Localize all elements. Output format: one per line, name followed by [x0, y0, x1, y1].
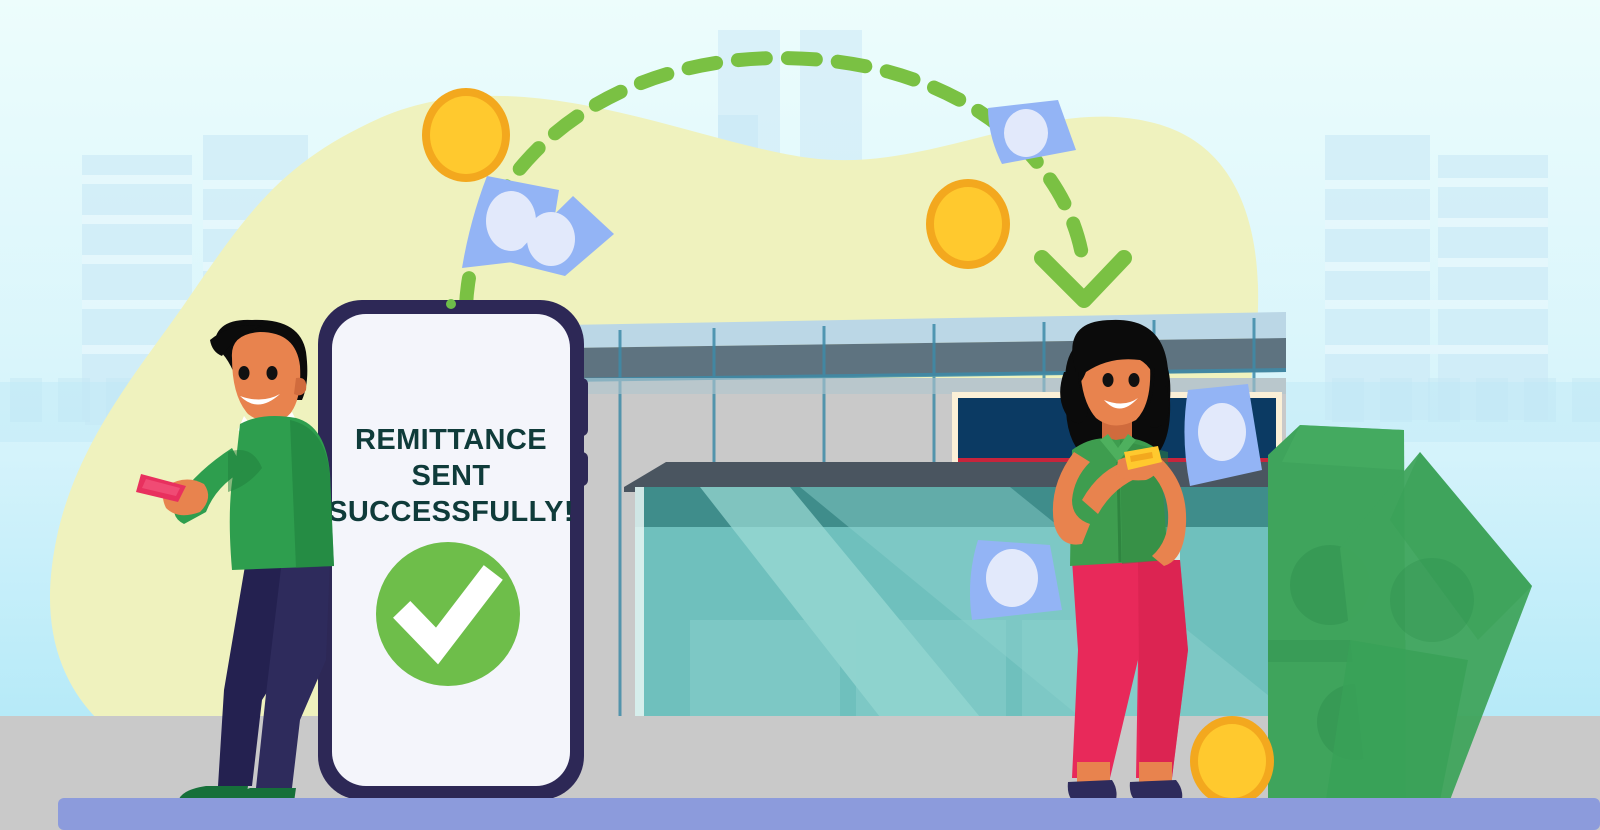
man-eye-right — [267, 366, 278, 380]
coin-top-left — [422, 88, 510, 182]
coin-mid-right — [926, 179, 1010, 269]
woman-eye-right — [1129, 373, 1140, 387]
phone-heading-line-1: REMITTANCE — [355, 424, 547, 456]
bank-storefront — [566, 312, 1295, 763]
phone-button-volume — [576, 378, 588, 436]
phone-heading-line-2: SENT — [412, 460, 491, 492]
man-eye-left — [239, 366, 250, 380]
scene-svg: REMITTANCE SENT SUCCESSFULLY! — [0, 0, 1600, 830]
coin-bottom — [1190, 716, 1274, 806]
bank-counter — [624, 462, 1295, 717]
success-phone[interactable]: REMITTANCE SENT SUCCESSFULLY! — [318, 299, 588, 800]
phone-heading-line-3: SUCCESSFULLY! — [328, 496, 574, 528]
floor-bar — [58, 798, 1600, 830]
phone-camera-dot — [446, 299, 456, 309]
woman-eye-left — [1103, 373, 1114, 387]
illustration-canvas: REMITTANCE SENT SUCCESSFULLY! — [0, 0, 1600, 830]
phone-button-power — [576, 452, 588, 486]
check-circle-icon — [376, 542, 520, 686]
